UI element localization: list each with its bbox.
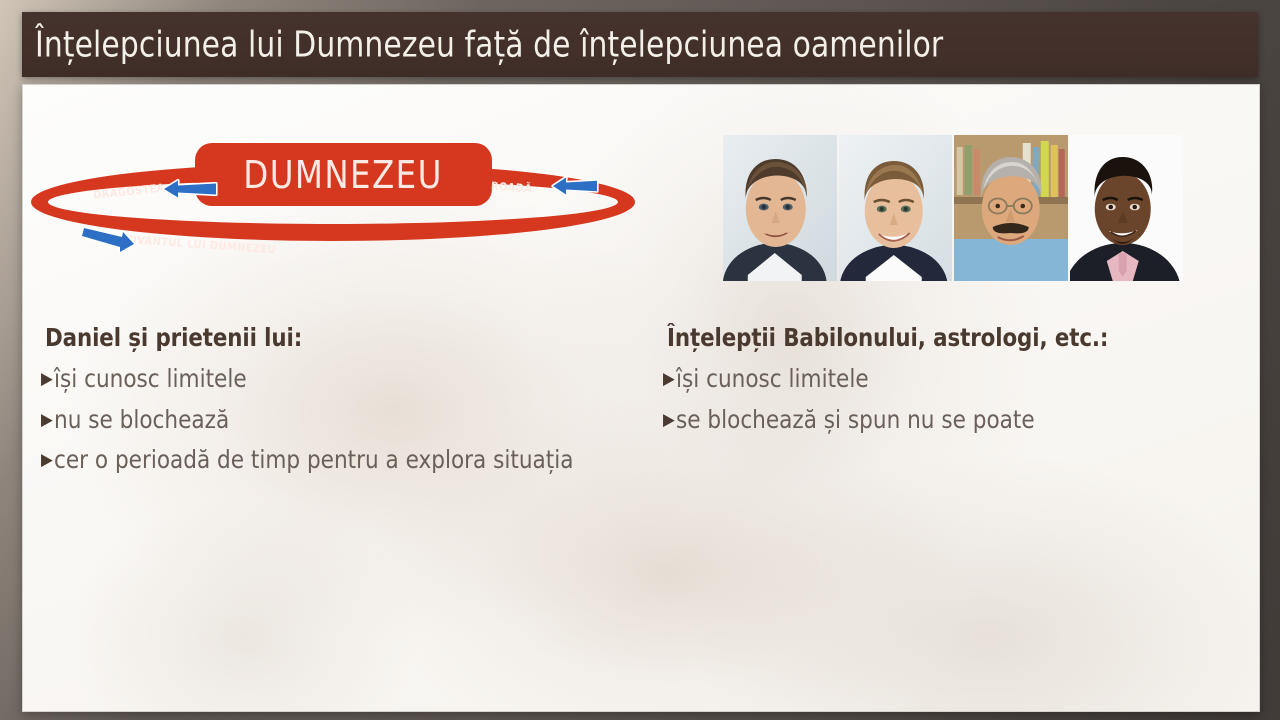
list-item-label: nu se blochează (54, 405, 229, 436)
portrait-man-2 (839, 135, 953, 281)
slide: Înțelepciunea lui Dumnezeu față de înțel… (0, 0, 1280, 720)
list-item-label: cer o perioadă de timp pentru a explora … (54, 445, 573, 476)
list-item-label: își cunosc limitele (676, 364, 869, 395)
arrow-left-icon (161, 177, 219, 201)
list-item: ▶ se blochează și spun nu se poate (663, 405, 1243, 436)
ring-label-roada: ROADĂ (491, 180, 533, 196)
dumnezeu-cycle-diagram: DUMNEZEU DRAGOSTEA ROADĂ CUVÂNTUL LUI DU… (23, 141, 643, 271)
dumnezeu-label: DUMNEZEU (244, 153, 444, 197)
column-right-heading: Înțelepții Babilonului, astrologi, etc.: (667, 323, 1214, 352)
arrow-left-icon (550, 174, 600, 198)
portrait-man-4 (1070, 135, 1184, 281)
column-right: Înțelepții Babilonului, astrologi, etc.:… (663, 323, 1243, 445)
bullet-triangle-icon: ▶ (663, 371, 675, 388)
arrow-right-icon (79, 227, 137, 253)
column-left: Daniel și prietenii lui: ▶ își cunosc li… (41, 323, 641, 476)
dumnezeu-center-box: DUMNEZEU (195, 143, 492, 206)
bullet-triangle-icon: ▶ (41, 371, 53, 388)
photo-strip (723, 135, 1183, 281)
column-right-bullet-list: ▶ își cunosc limitele ▶ se blochează și … (663, 364, 1243, 435)
bullet-triangle-icon: ▶ (663, 412, 675, 429)
bullet-triangle-icon: ▶ (41, 412, 53, 429)
list-item: ▶ nu se blochează (41, 405, 641, 436)
column-left-bullet-list: ▶ își cunosc limitele ▶ nu se blochează … (41, 364, 641, 476)
portrait-man-3 (954, 135, 1068, 281)
list-item-label: se blochează și spun nu se poate (676, 405, 1035, 436)
list-item: ▶ își cunosc limitele (41, 364, 641, 395)
slide-title-bar: Înțelepciunea lui Dumnezeu față de înțel… (22, 12, 1258, 77)
bullet-triangle-icon: ▶ (41, 452, 53, 469)
portrait-man-1 (723, 135, 837, 281)
list-item: ▶ își cunosc limitele (663, 364, 1243, 395)
list-item: ▶ cer o perioadă de timp pentru a explor… (41, 445, 641, 476)
slide-title: Înțelepciunea lui Dumnezeu față de înțel… (35, 24, 943, 65)
slide-content-panel: DUMNEZEU DRAGOSTEA ROADĂ CUVÂNTUL LUI DU… (22, 84, 1260, 712)
list-item-label: își cunosc limitele (54, 364, 247, 395)
column-left-heading: Daniel și prietenii lui: (45, 323, 611, 352)
